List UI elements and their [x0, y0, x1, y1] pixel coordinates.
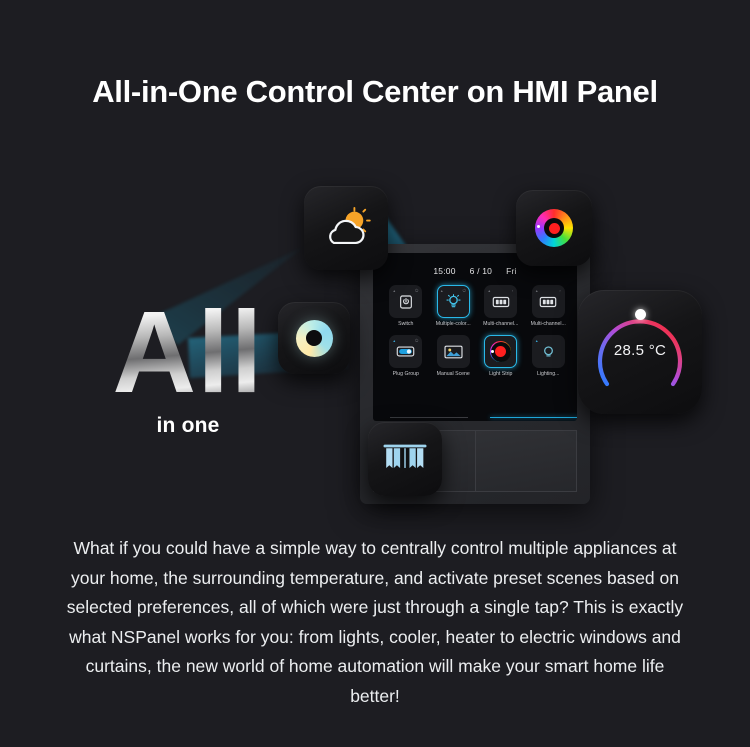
light-strip-icon[interactable] [484, 335, 517, 368]
app-tile-plug-group[interactable]: ▴ ⏻ Plug Group [384, 335, 428, 377]
signal-icon: ▴ [393, 288, 395, 293]
app-label: Multi-channel... [528, 321, 568, 327]
curtain-card[interactable] [368, 422, 442, 496]
cloud-sun-icon [318, 206, 374, 250]
switch-icon[interactable]: ▴ ⏻ [389, 285, 422, 318]
white-light-card[interactable] [278, 302, 350, 374]
switch-glyph [398, 294, 414, 310]
signal-icon: ▴ [536, 338, 538, 343]
rgb-color-card[interactable] [516, 190, 592, 266]
toggle-glyph [396, 345, 415, 358]
weather-card[interactable] [304, 186, 388, 270]
app-label: Switch [386, 321, 426, 327]
temperature-dial[interactable]: 28.5 °C [592, 304, 688, 400]
physical-button-right[interactable] [475, 430, 578, 492]
signal-icon: ▴ [488, 288, 490, 293]
power-icon: ⏻ [415, 338, 418, 343]
thermostat-card[interactable]: 28.5 °C [578, 290, 702, 414]
status-bar: 15:00 6 / 10 Fri [373, 266, 577, 276]
app-tile-light-strip[interactable]: Light Strip [479, 335, 523, 377]
app-tile-lighting[interactable]: ▴ Lighting... [527, 335, 571, 377]
rgb-ring-glyph [490, 341, 511, 362]
scene-image-icon[interactable] [437, 335, 470, 368]
wordmark-secondary: in one [108, 414, 268, 438]
hero-illustration: 15:00 6 / 10 Fri ▴ ⏻ [0, 140, 750, 520]
promo-page: All-in-One Control Center on HMI Panel [0, 0, 750, 747]
app-tile-multi-channel-1[interactable]: ▴ › Multi-channel... [479, 285, 523, 327]
page-indicator [386, 419, 577, 421]
bulb-glyph [445, 293, 462, 310]
page-title: All-in-One Control Center on HMI Panel [0, 74, 750, 110]
app-label: Plug Group [386, 371, 426, 377]
app-tile-manual-scene[interactable]: Manual Scene [432, 335, 476, 377]
indicator-active [490, 417, 577, 419]
dial-handle[interactable] [635, 309, 646, 320]
app-label: Multi-channel... [481, 321, 521, 327]
app-grid: ▴ ⏻ Switch ▴ [384, 285, 570, 377]
chevron-right-icon: › [512, 288, 513, 293]
indicator-inactive [390, 417, 468, 419]
multi-channel-icon[interactable]: ▴ › [532, 285, 565, 318]
cct-ring-icon[interactable] [296, 320, 333, 357]
wordmark-primary: All [112, 300, 263, 404]
multi-channel-glyph [539, 295, 557, 309]
app-label: Multiple-color... [433, 321, 473, 327]
image-glyph [444, 344, 463, 360]
signal-icon: ▴ [441, 288, 443, 293]
ring-knob [491, 350, 494, 353]
power-icon: ⏻ [415, 288, 418, 293]
multi-channel-glyph [492, 295, 510, 309]
multi-channel-icon[interactable]: ▴ › [484, 285, 517, 318]
lighting-glyph [540, 343, 557, 360]
all-in-one-wordmark: All in one [108, 300, 268, 438]
app-tile-multiple-color[interactable]: ▴ ⏻ Multiple-color... [432, 285, 476, 327]
power-icon: ⏻ [463, 288, 466, 293]
rgb-ring-icon[interactable] [535, 209, 573, 247]
app-tile-multi-channel-2[interactable]: ▴ › Multi-channel... [527, 285, 571, 327]
plug-group-icon[interactable]: ▴ ⏻ [389, 335, 422, 368]
lighting-icon[interactable]: ▴ [532, 335, 565, 368]
chevron-right-icon: › [559, 288, 560, 293]
signal-icon: ▴ [393, 338, 395, 343]
signal-icon: ▴ [536, 288, 538, 293]
status-weekday: Fri [506, 266, 517, 276]
body-paragraph: What if you could have a simple way to c… [60, 534, 690, 711]
temperature-value: 28.5 °C [592, 342, 688, 359]
app-label: Manual Scene [433, 371, 473, 377]
bulb-icon[interactable]: ▴ ⏻ [437, 285, 470, 318]
app-label: Light Strip [481, 371, 521, 377]
curtain-icon [381, 442, 429, 476]
status-date: 6 / 10 [470, 266, 492, 276]
app-label: Lighting... [528, 371, 568, 377]
status-time: 15:00 [433, 266, 455, 276]
ring-knob[interactable] [537, 225, 540, 228]
app-tile-switch[interactable]: ▴ ⏻ Switch [384, 285, 428, 327]
nspanel-screen[interactable]: 15:00 6 / 10 Fri ▴ ⏻ [373, 253, 577, 421]
